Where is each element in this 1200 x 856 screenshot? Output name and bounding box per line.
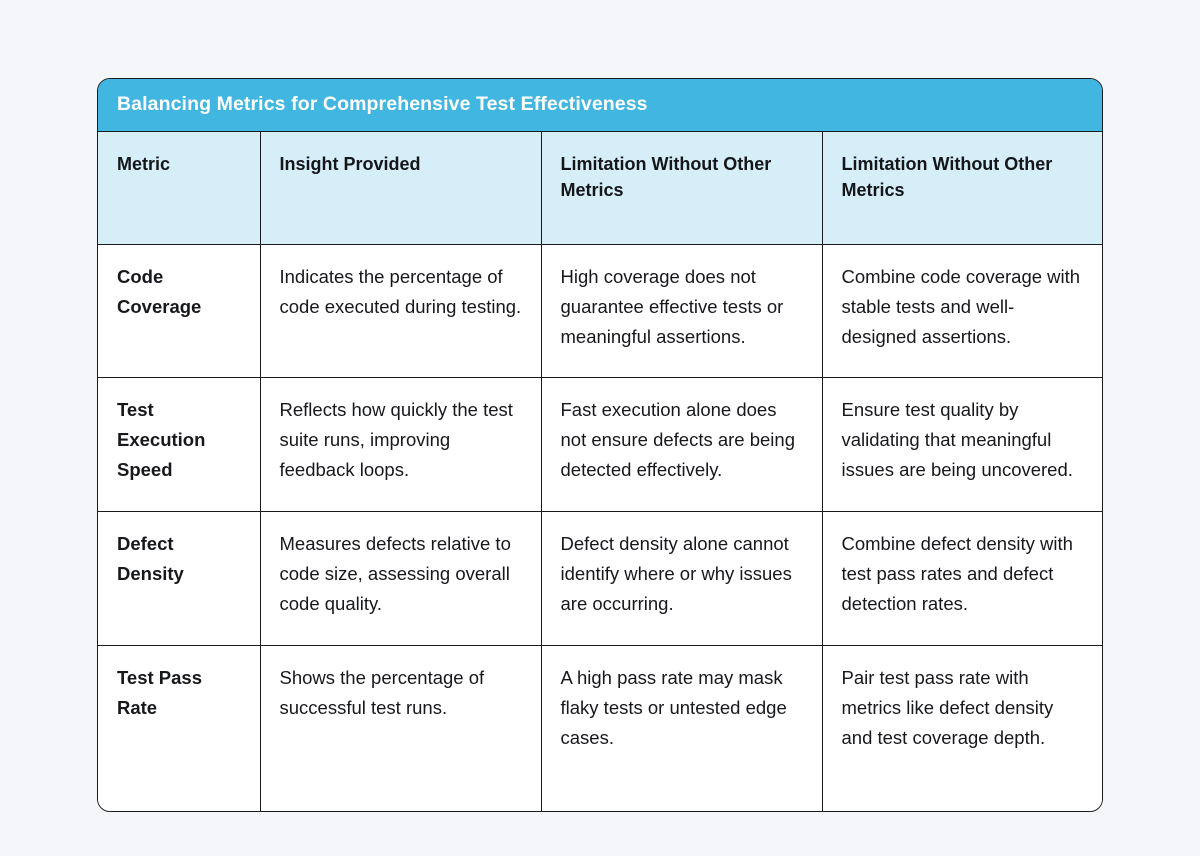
cell-metric: Test Execution Speed (98, 378, 260, 512)
cell-limitation: A high pass rate may mask flaky tests or… (541, 646, 822, 811)
cell-recommendation: Combine code coverage with stable tests … (822, 244, 1102, 378)
cell-recommendation: Ensure test quality by validating that m… (822, 378, 1102, 512)
metrics-table: Metric Insight Provided Limitation Witho… (98, 131, 1102, 811)
column-header-insight: Insight Provided (260, 132, 541, 244)
cell-recommendation: Pair test pass rate with metrics like de… (822, 646, 1102, 811)
cell-insight: Reflects how quickly the test suite runs… (260, 378, 541, 512)
table-body: Code Coverage Indicates the percentage o… (98, 244, 1102, 811)
column-header-recommendation: Limitation Without Other Metrics (822, 132, 1102, 244)
table-head: Metric Insight Provided Limitation Witho… (98, 132, 1102, 244)
cell-limitation: High coverage does not guarantee effecti… (541, 244, 822, 378)
table-header-row: Metric Insight Provided Limitation Witho… (98, 132, 1102, 244)
cell-limitation: Fast execution alone does not ensure def… (541, 378, 822, 512)
column-header-metric: Metric (98, 132, 260, 244)
column-header-limitation: Limitation Without Other Metrics (541, 132, 822, 244)
table-row: Test Pass Rate Shows the percentage of s… (98, 646, 1102, 811)
page-canvas: Balancing Metrics for Comprehensive Test… (0, 0, 1200, 856)
cell-limitation: Defect density alone cannot identify whe… (541, 512, 822, 646)
cell-metric: Code Coverage (98, 244, 260, 378)
table-title: Balancing Metrics for Comprehensive Test… (98, 79, 1102, 131)
cell-recommendation: Combine defect density with test pass ra… (822, 512, 1102, 646)
cell-metric: Defect Density (98, 512, 260, 646)
cell-insight: Indicates the percentage of code execute… (260, 244, 541, 378)
cell-metric: Test Pass Rate (98, 646, 260, 811)
table-row: Code Coverage Indicates the percentage o… (98, 244, 1102, 378)
table-row: Defect Density Measures defects relative… (98, 512, 1102, 646)
table-row: Test Execution Speed Reflects how quickl… (98, 378, 1102, 512)
metrics-table-card: Balancing Metrics for Comprehensive Test… (97, 78, 1103, 812)
cell-insight: Measures defects relative to code size, … (260, 512, 541, 646)
cell-insight: Shows the percentage of successful test … (260, 646, 541, 811)
